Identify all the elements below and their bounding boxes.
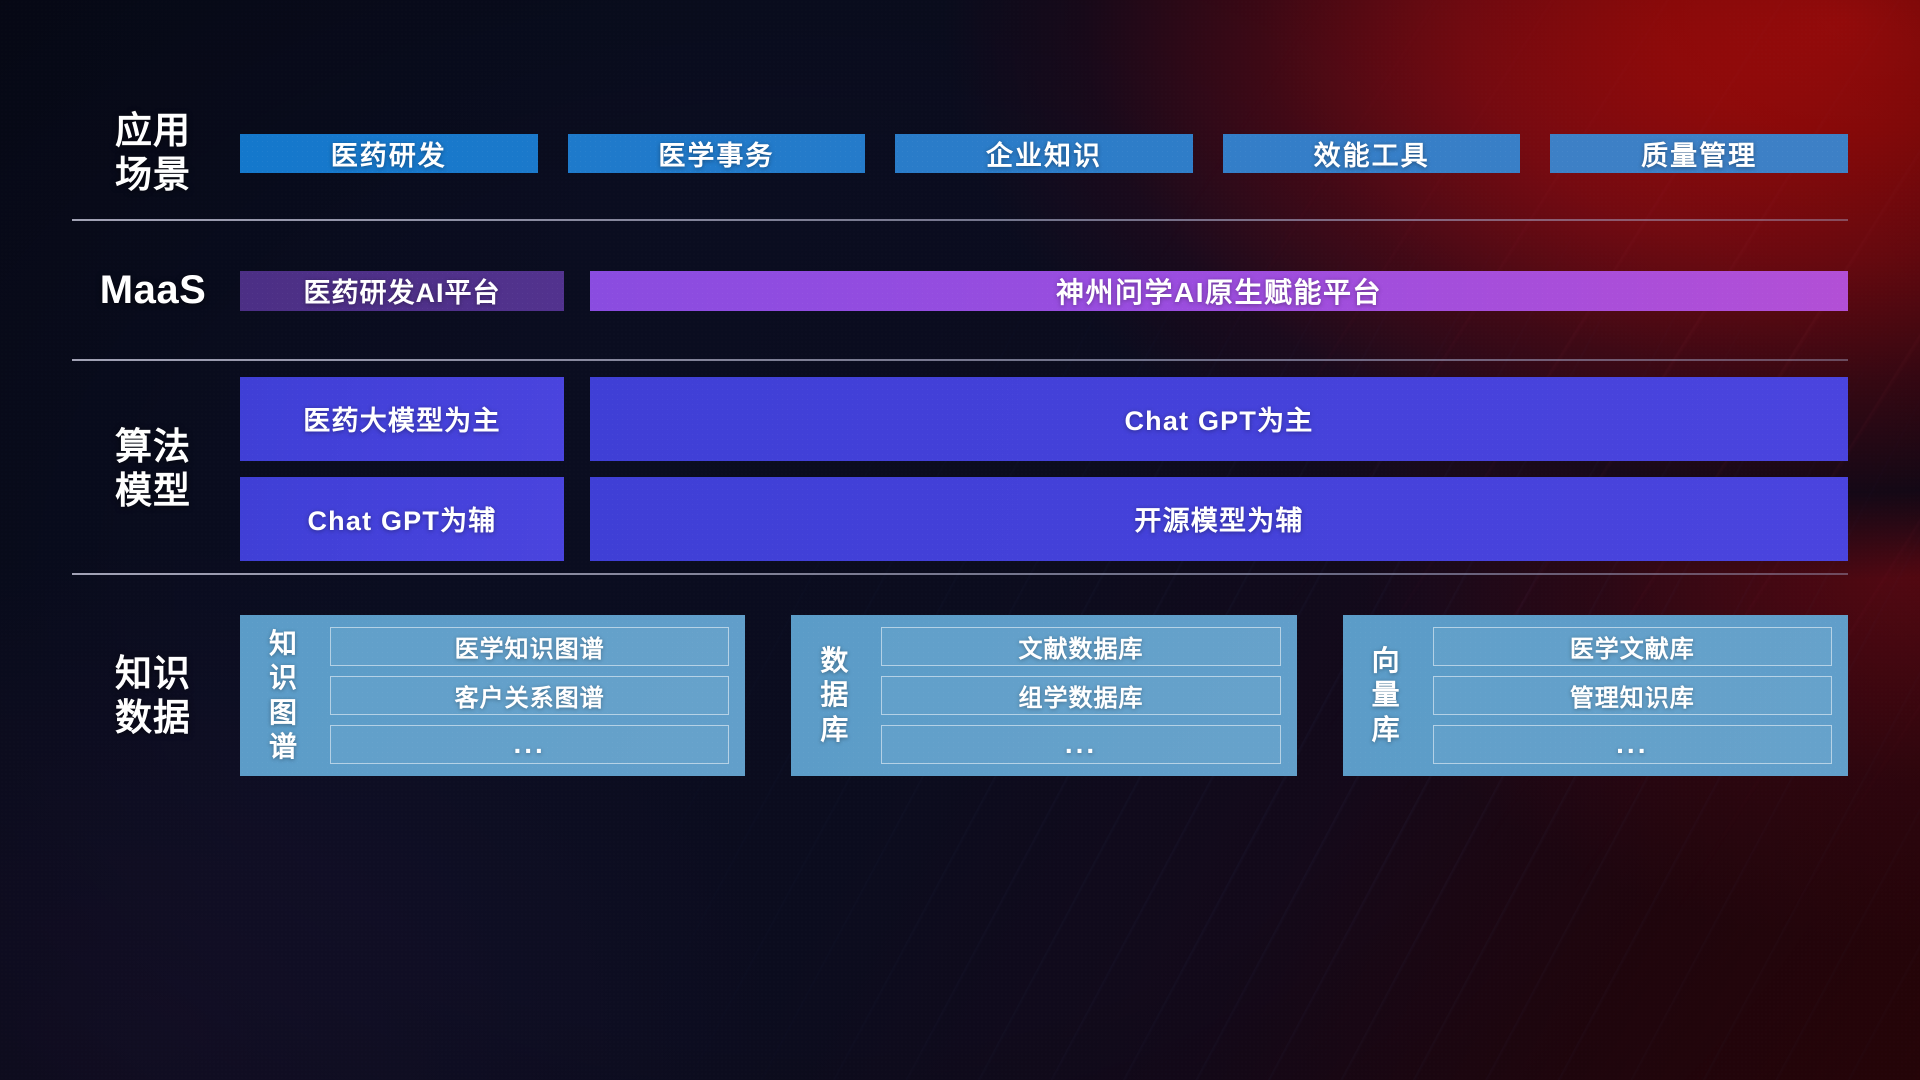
vertical-label-char: 量 <box>1372 678 1400 712</box>
maas-boxes: 医药研发AI平台 神州问学AI原生赋能平台 <box>240 271 1848 311</box>
knowledge-item-management-knowledge-store[interactable]: 管理知识库 <box>1433 676 1832 715</box>
vertical-label-char: 识 <box>269 661 297 695</box>
row-knowledge-data: 知识 数据 知识图谱 医学知识图谱 客户关系图谱 ... 数据库 文献数据库 <box>72 598 1848 793</box>
knowledge-item-more-vector-store[interactable]: ... <box>1433 725 1832 764</box>
row-label-algorithm-model: 算法 模型 <box>72 425 240 512</box>
diagram-content: 应用 场景 医药研发 医学事务 企业知识 效能工具 质量管理 MaaS 医药研发… <box>0 0 1920 1080</box>
algorithm-model-line-secondary: Chat GPT为辅 开源模型为辅 <box>240 477 1848 561</box>
knowledge-item-medical-literature-store[interactable]: 医学文献库 <box>1433 627 1832 666</box>
knowledge-panel-database[interactable]: 数据库 文献数据库 组学数据库 ... <box>791 615 1296 776</box>
app-box-quality-management[interactable]: 质量管理 <box>1550 134 1848 173</box>
app-box-enterprise-knowledge[interactable]: 企业知识 <box>895 134 1193 173</box>
knowledge-item-literature-database[interactable]: 文献数据库 <box>881 627 1280 666</box>
vertical-label-char: 图 <box>269 696 297 730</box>
maas-box-medicine-rd-ai-platform[interactable]: 医药研发AI平台 <box>240 271 564 311</box>
knowledge-panel-knowledge-graph[interactable]: 知识图谱 医学知识图谱 客户关系图谱 ... <box>240 615 745 776</box>
knowledge-panel-label-knowledge-graph: 知识图谱 <box>250 627 316 764</box>
architecture-diagram: 应用 场景 医药研发 医学事务 企业知识 效能工具 质量管理 MaaS 医药研发… <box>0 0 1920 1080</box>
row-label-maas: MaaS <box>72 267 240 314</box>
row-label-application-scenarios: 应用 场景 <box>72 109 240 196</box>
algo-box-chatgpt-secondary[interactable]: Chat GPT为辅 <box>240 477 564 561</box>
knowledge-items-database: 文献数据库 组学数据库 ... <box>867 627 1280 764</box>
app-box-medical-affairs[interactable]: 医学事务 <box>568 134 866 173</box>
vertical-label-char: 据 <box>820 678 848 712</box>
divider-apps-maas <box>72 219 1848 221</box>
knowledge-panel-vector-store[interactable]: 向量库 医学文献库 管理知识库 ... <box>1343 615 1848 776</box>
algo-box-medicine-large-model-primary[interactable]: 医药大模型为主 <box>240 377 564 461</box>
row-label-knowledge-data: 知识 数据 <box>72 652 240 739</box>
knowledge-items-vector-store: 医学文献库 管理知识库 ... <box>1419 627 1832 764</box>
algorithm-model-line-primary: 医药大模型为主 Chat GPT为主 <box>240 377 1848 461</box>
vertical-label-char: 库 <box>820 713 848 747</box>
vertical-label-char: 谱 <box>269 730 297 764</box>
row-maas: MaaS 医药研发AI平台 神州问学AI原生赋能平台 <box>72 239 1848 342</box>
divider-maas-algo <box>72 359 1848 361</box>
knowledge-items-knowledge-graph: 医学知识图谱 客户关系图谱 ... <box>316 627 729 764</box>
knowledge-data-panels: 知识图谱 医学知识图谱 客户关系图谱 ... 数据库 文献数据库 组学数据库 .… <box>240 615 1848 776</box>
algo-box-chatgpt-primary[interactable]: Chat GPT为主 <box>590 377 1848 461</box>
row-algorithm-model: 算法 模型 医药大模型为主 Chat GPT为主 Chat GPT为辅 开源模型… <box>72 377 1848 560</box>
algorithm-model-boxes: 医药大模型为主 Chat GPT为主 Chat GPT为辅 开源模型为辅 <box>240 377 1848 561</box>
knowledge-item-omics-database[interactable]: 组学数据库 <box>881 676 1280 715</box>
vertical-label-char: 知 <box>269 627 297 661</box>
divider-algo-knowledge <box>72 573 1848 575</box>
knowledge-panel-label-database: 数据库 <box>801 627 867 764</box>
row-application-scenarios: 应用 场景 医药研发 医学事务 企业知识 效能工具 质量管理 <box>72 105 1848 201</box>
application-scenario-boxes: 医药研发 医学事务 企业知识 效能工具 质量管理 <box>240 134 1848 173</box>
vertical-label-char: 库 <box>1372 713 1400 747</box>
algo-box-open-source-model-secondary[interactable]: 开源模型为辅 <box>590 477 1848 561</box>
knowledge-item-medical-knowledge-graph[interactable]: 医学知识图谱 <box>330 627 729 666</box>
app-box-efficiency-tools[interactable]: 效能工具 <box>1223 134 1521 173</box>
vertical-label-char: 向 <box>1372 644 1400 678</box>
app-box-medicine-rd[interactable]: 医药研发 <box>240 134 538 173</box>
knowledge-item-more-database[interactable]: ... <box>881 725 1280 764</box>
vertical-label-char: 数 <box>820 644 848 678</box>
maas-box-shenzhou-wenxue-platform[interactable]: 神州问学AI原生赋能平台 <box>590 271 1848 311</box>
knowledge-item-customer-relation-graph[interactable]: 客户关系图谱 <box>330 676 729 715</box>
knowledge-panel-label-vector-store: 向量库 <box>1353 627 1419 764</box>
knowledge-item-more-knowledge-graph[interactable]: ... <box>330 725 729 764</box>
